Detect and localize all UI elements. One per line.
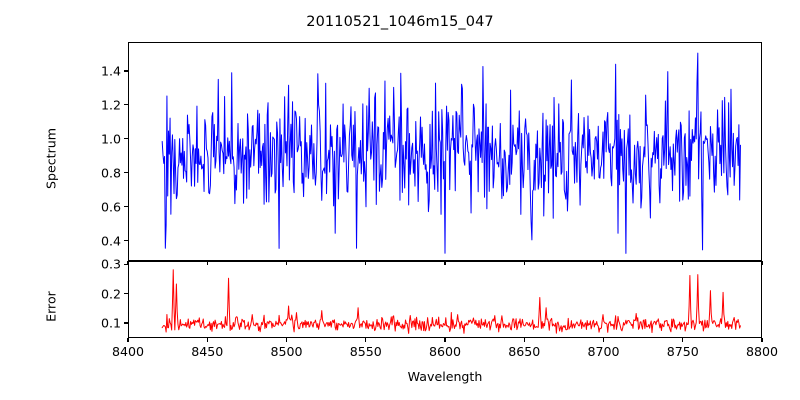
error-xtick-label: 8700 bbox=[587, 344, 619, 359]
spectrum-axis-label: Spectrum bbox=[44, 128, 59, 189]
spectrum-ytick-label: 1.4 bbox=[81, 63, 121, 78]
spectrum-line-plot bbox=[129, 43, 761, 260]
spectrum-ytick-label: 0.6 bbox=[81, 199, 121, 214]
error-xtick-mark bbox=[761, 338, 762, 342]
error-xtick-mark bbox=[603, 338, 604, 342]
error-xtick-mark bbox=[444, 338, 445, 342]
error-xtick-label: 8450 bbox=[191, 344, 223, 359]
spectrum-xtick-mark bbox=[286, 261, 287, 265]
error-ytick-mark bbox=[124, 322, 128, 323]
figure-title: 20110521_1046m15_047 bbox=[0, 14, 800, 30]
spectrum-xtick-mark bbox=[207, 261, 208, 265]
error-ytick-mark bbox=[124, 293, 128, 294]
error-line-plot bbox=[129, 262, 761, 338]
spectrum-xtick-mark bbox=[682, 261, 683, 265]
spectrum-xtick-mark bbox=[444, 261, 445, 265]
error-xtick-label: 8600 bbox=[429, 344, 461, 359]
spectrum-ytick-label: 0.8 bbox=[81, 165, 121, 180]
wavelength-axis-label: Wavelength bbox=[408, 369, 483, 384]
spectrum-xtick-mark bbox=[603, 261, 604, 265]
spectrum-series bbox=[162, 53, 740, 253]
spectrum-ytick-label: 1.0 bbox=[81, 131, 121, 146]
error-series bbox=[162, 269, 740, 333]
error-xtick-mark bbox=[207, 338, 208, 342]
error-xtick-label: 8500 bbox=[270, 344, 302, 359]
spectrum-xtick-mark bbox=[127, 261, 128, 265]
spectrum-ytick-mark bbox=[124, 206, 128, 207]
error-ytick-label: 0.3 bbox=[81, 257, 121, 272]
spectrum-ytick-mark bbox=[124, 104, 128, 105]
spectrum-xtick-mark bbox=[761, 261, 762, 265]
figure-canvas: 20110521_1046m15_047 0.40.60.81.01.21.40… bbox=[0, 0, 800, 400]
spectrum-ytick-mark bbox=[124, 240, 128, 241]
error-xtick-mark bbox=[365, 338, 366, 342]
error-xtick-label: 8400 bbox=[112, 344, 144, 359]
error-axis-label: Error bbox=[44, 291, 59, 322]
error-ytick-label: 0.2 bbox=[81, 286, 121, 301]
spectrum-xtick-mark bbox=[524, 261, 525, 265]
spectrum-ytick-label: 1.2 bbox=[81, 97, 121, 112]
error-xtick-label: 8800 bbox=[746, 344, 778, 359]
error-xtick-label: 8550 bbox=[350, 344, 382, 359]
spectrum-ytick-mark bbox=[124, 172, 128, 173]
error-xtick-label: 8650 bbox=[508, 344, 540, 359]
error-xtick-mark bbox=[524, 338, 525, 342]
error-xtick-mark bbox=[127, 338, 128, 342]
spectrum-ytick-mark bbox=[124, 138, 128, 139]
error-axes bbox=[128, 261, 762, 339]
spectrum-ytick-mark bbox=[124, 70, 128, 71]
error-xtick-mark bbox=[286, 338, 287, 342]
spectrum-ytick-label: 0.4 bbox=[81, 233, 121, 248]
spectrum-xtick-mark bbox=[365, 261, 366, 265]
spectrum-axes bbox=[128, 42, 762, 261]
error-xtick-mark bbox=[682, 338, 683, 342]
error-ytick-label: 0.1 bbox=[81, 315, 121, 330]
error-xtick-label: 8750 bbox=[667, 344, 699, 359]
